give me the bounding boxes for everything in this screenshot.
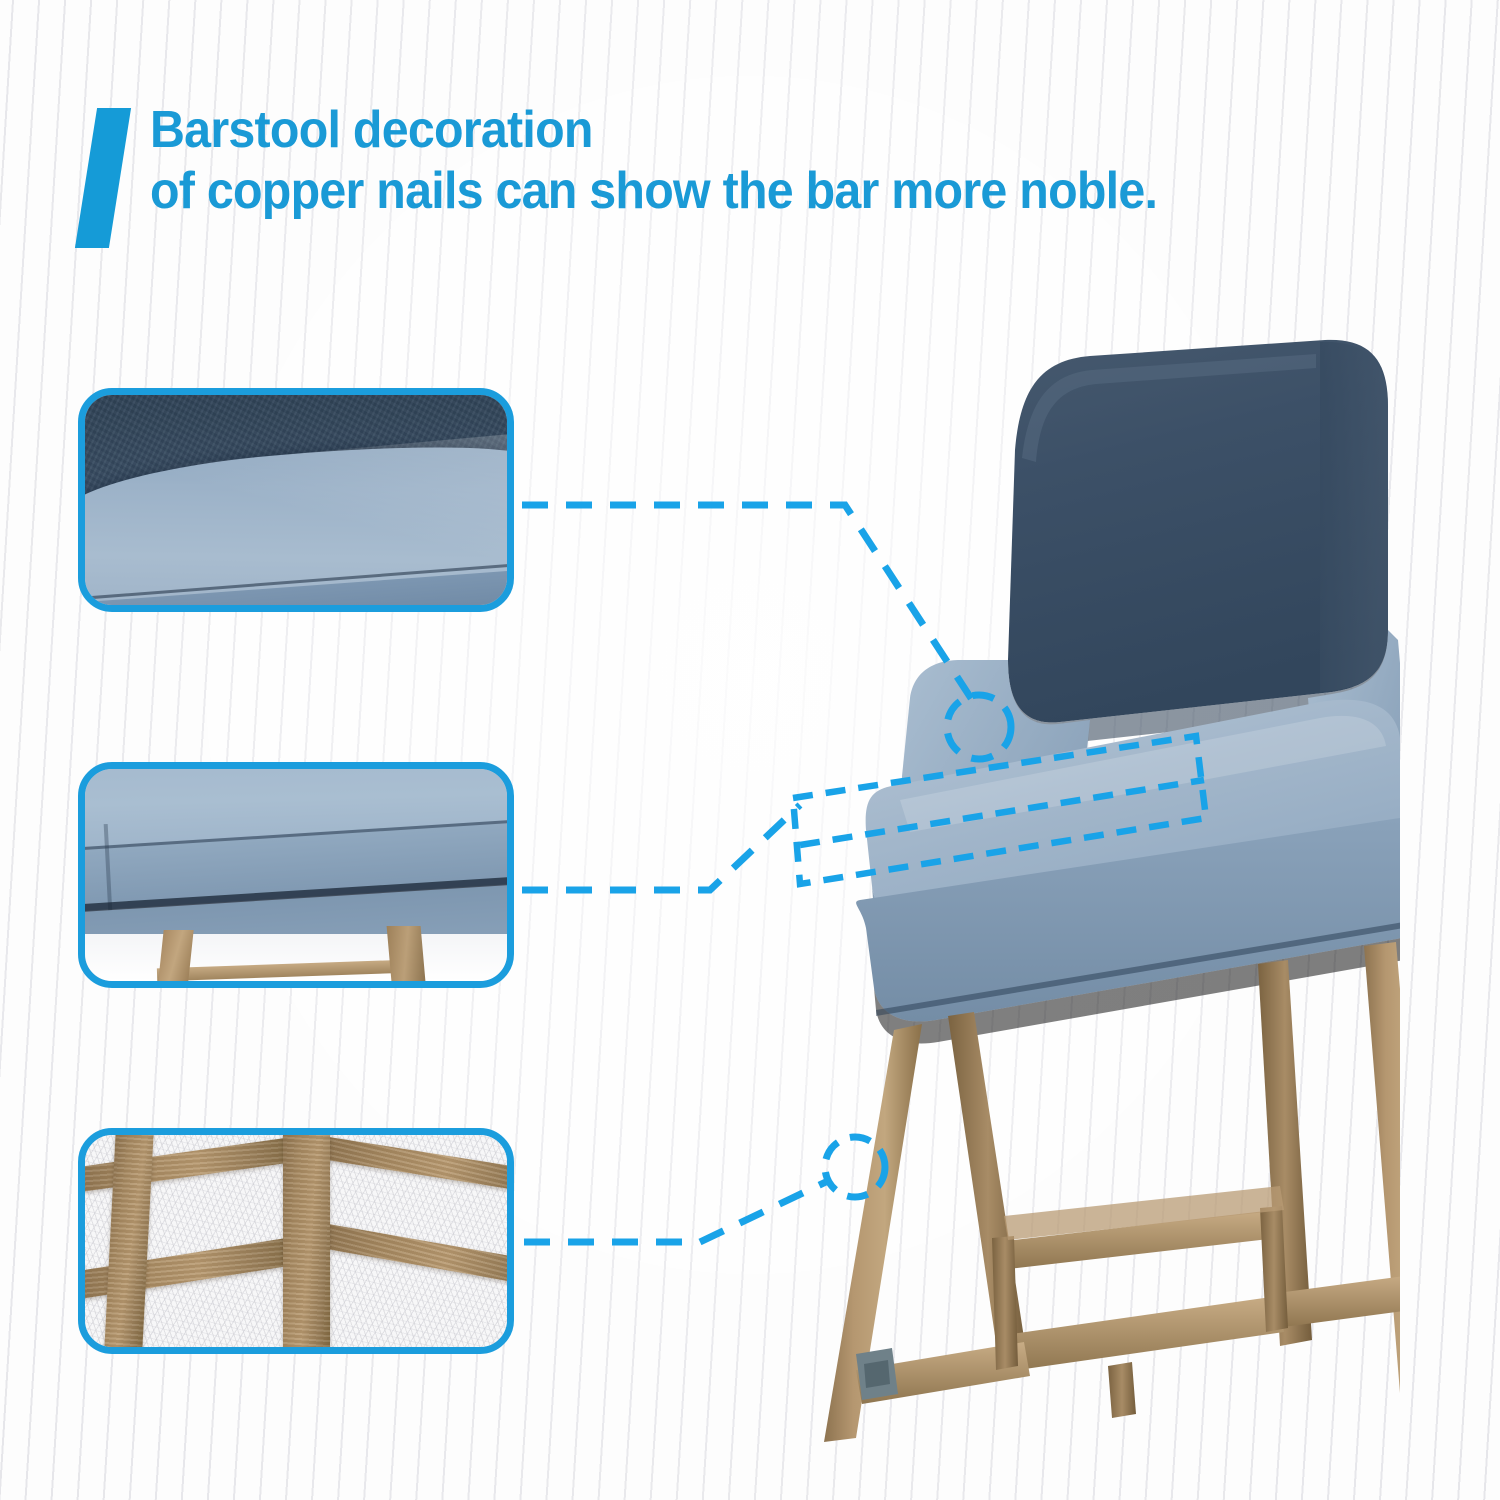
detail-panel-footrest-frame[interactable] [78,1128,514,1354]
headline-accent-bar-icon [75,108,131,248]
footrest-metal-bracket [856,1348,898,1400]
detail-panel-backrest-seat[interactable] [78,388,514,612]
barstool-product-image [760,330,1400,1470]
panel-3-leg-center [283,1135,329,1347]
brace-vertical-left [992,1236,1018,1370]
panel-2-wood-leg-left [158,930,193,981]
infographic-canvas: Barstool decoration of copper nails can … [0,0,1500,1500]
callout-line-cushion [522,805,800,890]
backrest-group [1008,340,1388,745]
backrest-right-fold [1320,342,1388,692]
panel-2-image [85,769,507,981]
leg-front-right [1364,942,1400,1418]
barstool-illustration [760,330,1400,1470]
brace-front-lower [998,1296,1284,1372]
brace-center-stub [1108,1362,1136,1418]
page-title: Barstool decoration of copper nails can … [150,100,1387,223]
panel-1-image [85,395,507,605]
detail-panel-seat-cushion-edge[interactable] [78,762,514,988]
panel-2-wood-leg-right [386,926,425,981]
panel-3-image [85,1135,507,1347]
